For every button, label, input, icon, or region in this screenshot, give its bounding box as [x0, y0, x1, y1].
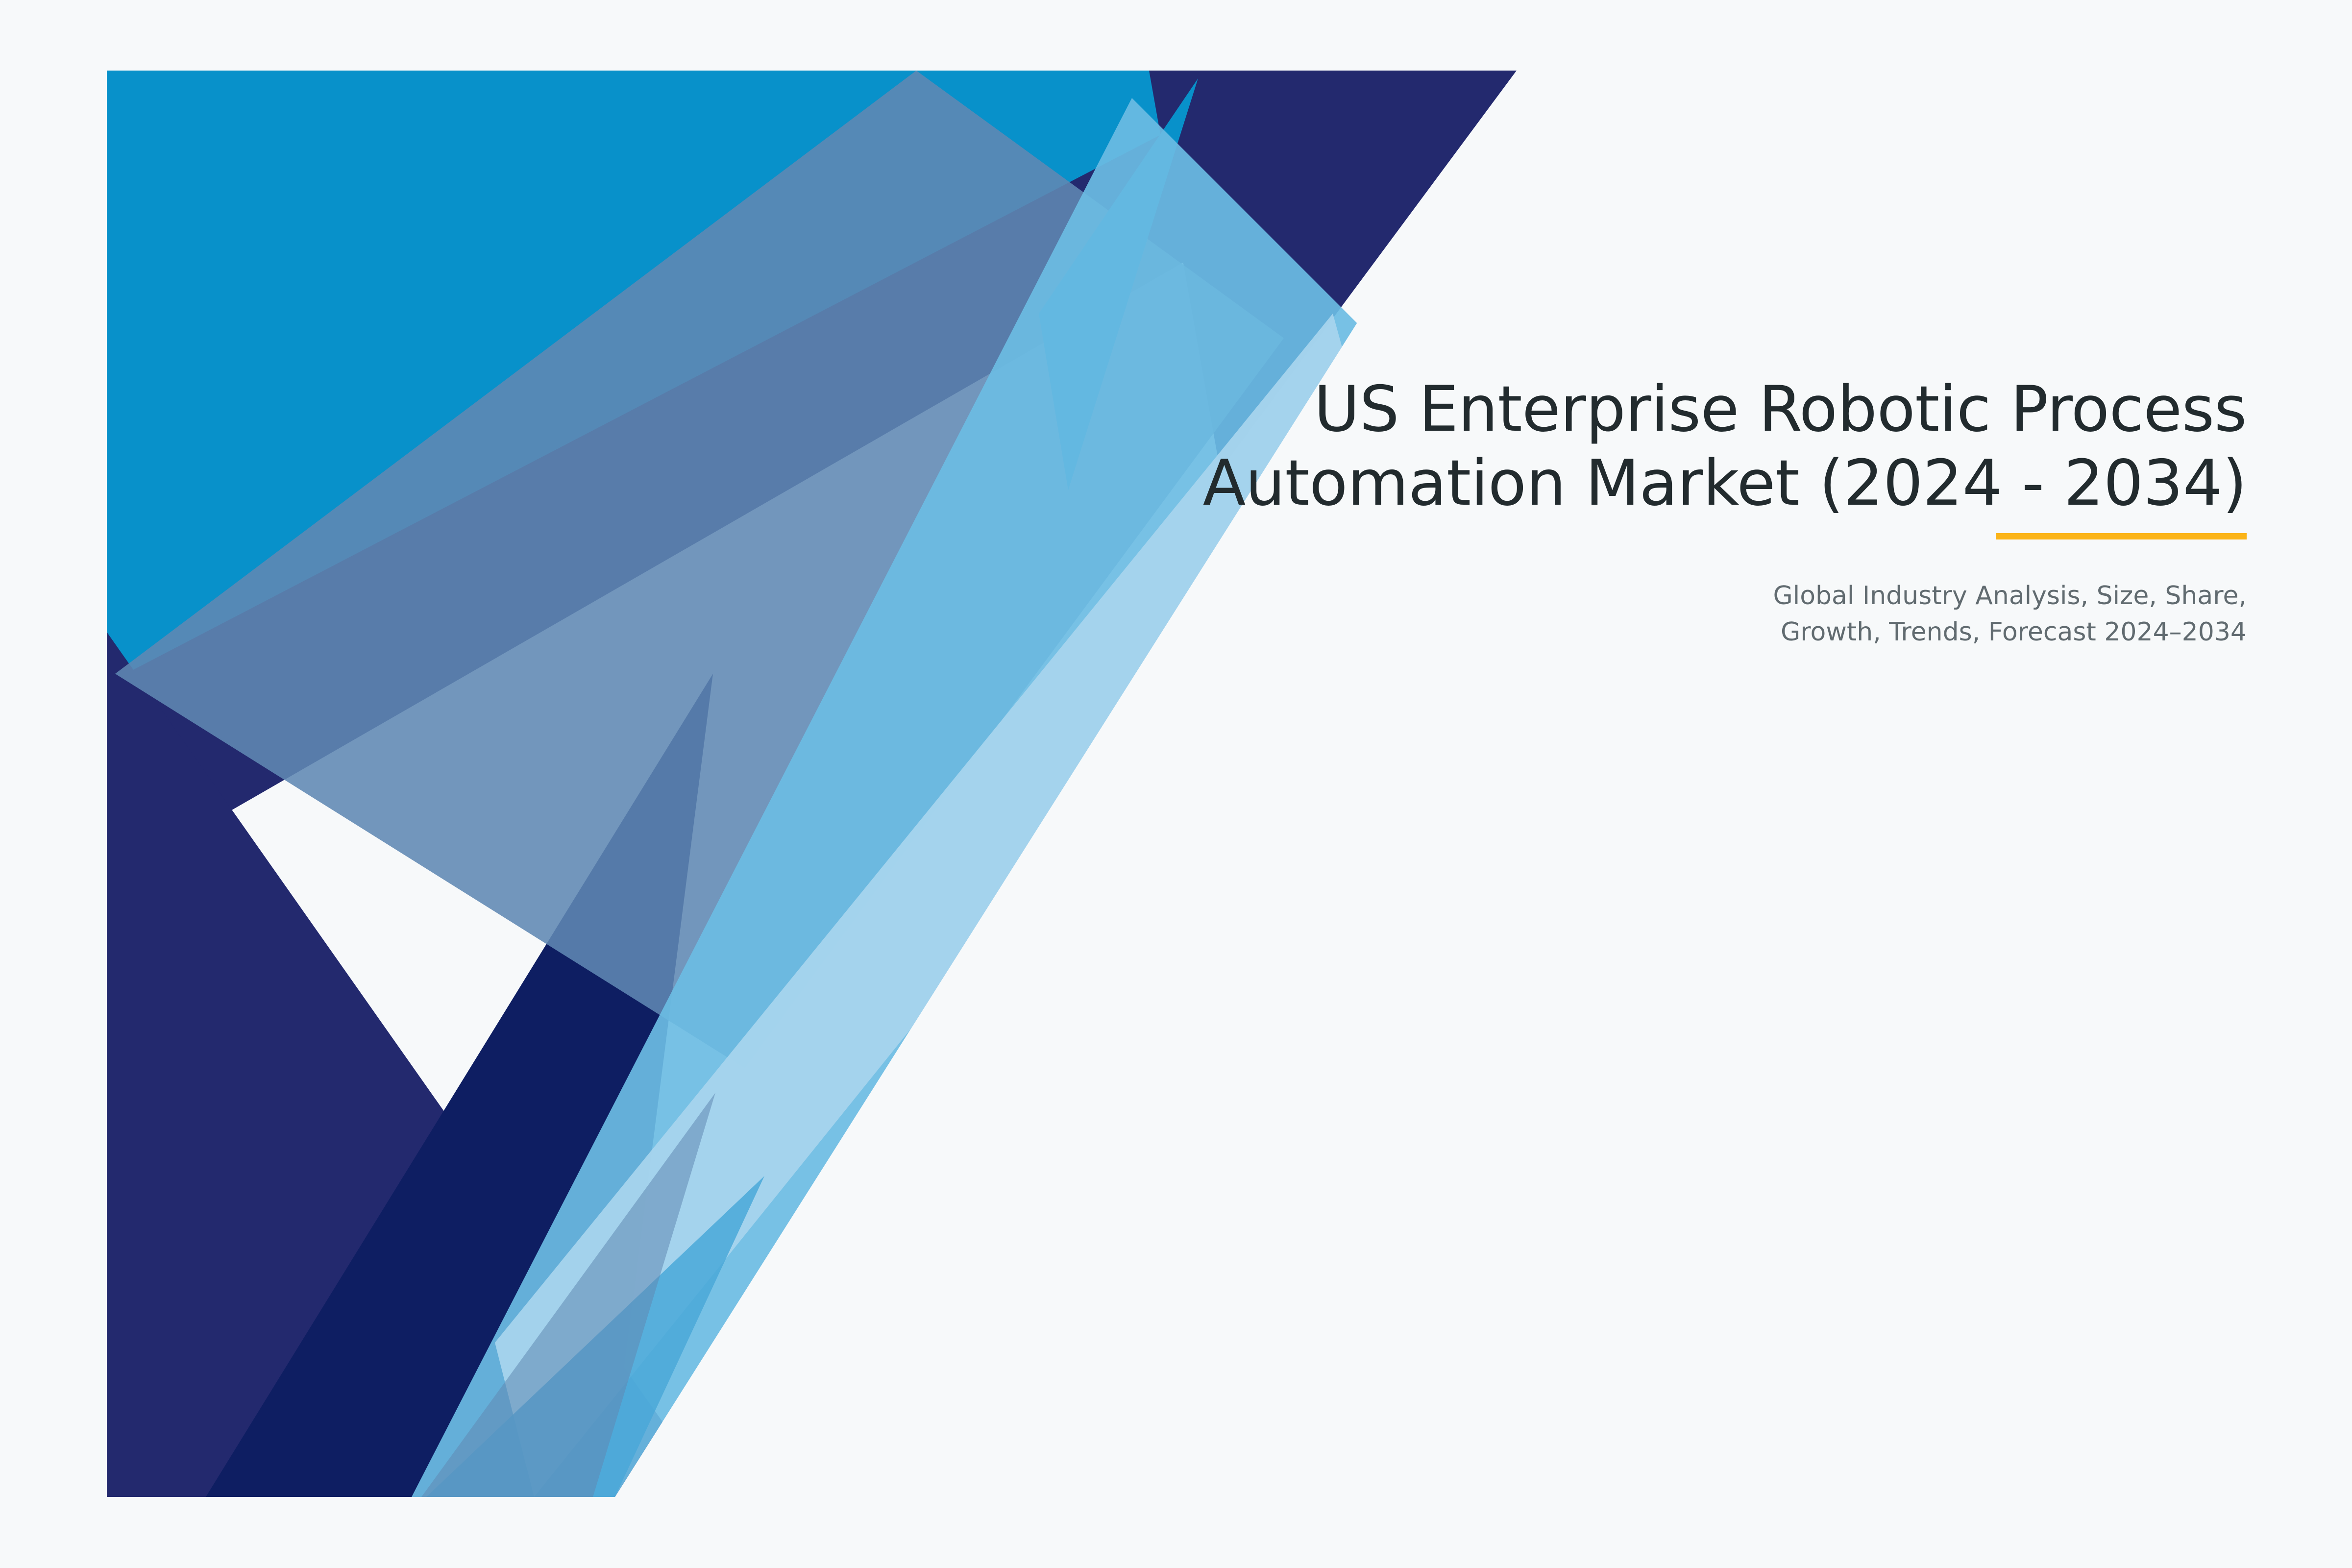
shape-sky-blue-beam — [412, 98, 1406, 1497]
cover-text-block: US Enterprise Robotic Process Automation… — [1071, 372, 2247, 651]
page-subtitle: Global Industry Analysis, Size, Share, G… — [1071, 578, 2247, 651]
shape-slate-overlay-lower — [421, 1093, 715, 1497]
title-wrapper: US Enterprise Robotic Process Automation… — [1071, 372, 2247, 520]
shape-deep-navy-spear — [206, 674, 713, 1497]
artwork-svg — [0, 0, 2352, 1568]
underline-highlight-accent — [1996, 533, 2247, 539]
artwork-shape-group — [107, 71, 1517, 1497]
shape-navy-left-block — [107, 632, 715, 1497]
shape-mid-blue-lower-sliver — [426, 1176, 764, 1497]
page-title: US Enterprise Robotic Process Automation… — [1071, 372, 2247, 520]
cover-artwork — [0, 0, 2352, 1568]
